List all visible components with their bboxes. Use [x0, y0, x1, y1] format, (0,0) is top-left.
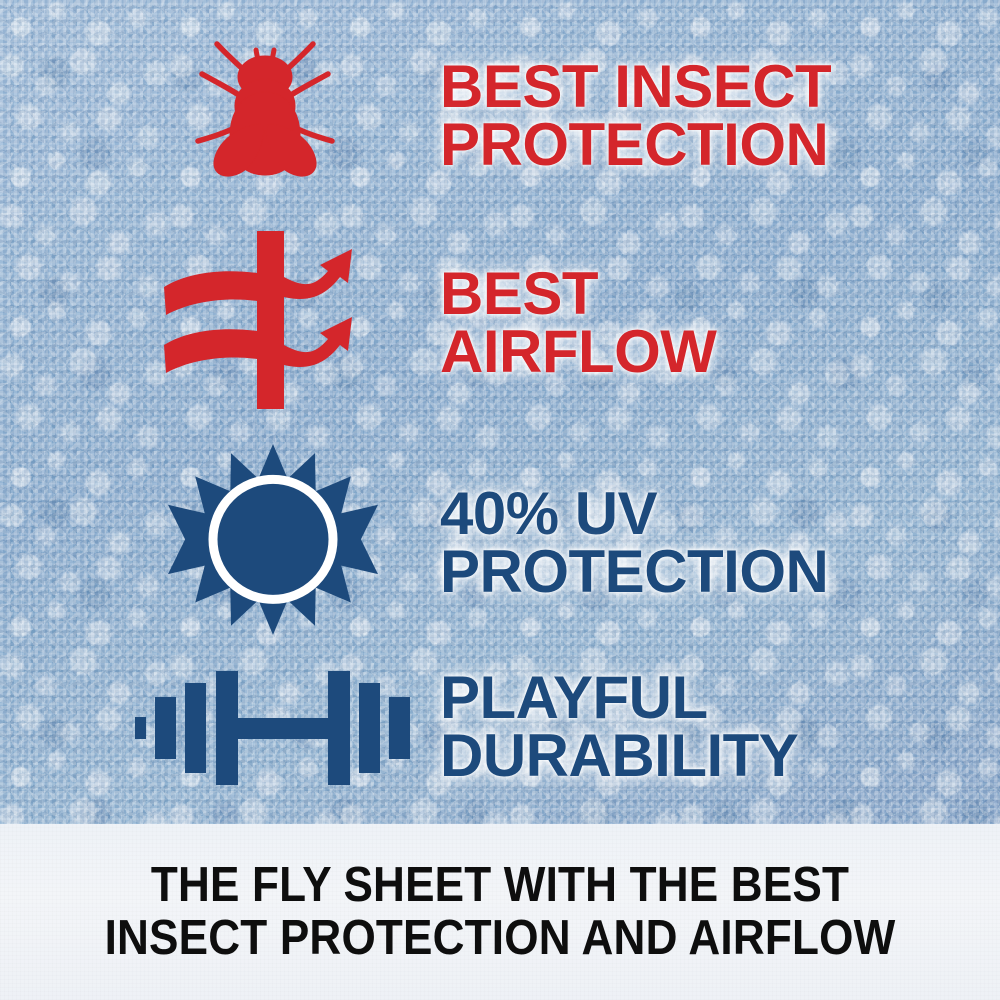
feature-row-uv-protection: 40% UV PROTECTION: [0, 440, 1000, 645]
dumbbell-icon: [135, 655, 405, 800]
caption-headline: THE FLY SHEET WITH THE BEST INSECT PROTE…: [68, 859, 932, 965]
dumbbell-icon-cell: [135, 655, 405, 800]
caption-bar: THE FLY SHEET WITH THE BEST INSECT PROTE…: [0, 824, 1000, 1000]
sun-icon-cell: [165, 440, 380, 645]
sun-icon: [167, 442, 379, 644]
feature-row-durability: PLAYFUL DURABILITY: [0, 655, 1000, 805]
feature-list: BEST INSECT PROTECTION: [0, 0, 1000, 824]
feature-label-uv-protection: 40% UV PROTECTION: [440, 485, 828, 600]
fly-icon: [190, 20, 340, 200]
feature-text-cell-uv-protection: 40% UV PROTECTION: [440, 485, 828, 600]
feature-text-cell-insect-protection: BEST INSECT PROTECTION: [440, 58, 831, 173]
fly-icon-cell: [185, 20, 345, 200]
feature-text-cell-airflow: BEST AIRFLOW: [440, 265, 716, 380]
feature-label-insect-protection: BEST INSECT PROTECTION: [440, 58, 831, 173]
feature-label-durability: PLAYFUL DURABILITY: [440, 669, 798, 784]
feature-row-airflow: BEST AIRFLOW: [0, 225, 1000, 415]
feature-text-cell-durability: PLAYFUL DURABILITY: [440, 669, 798, 784]
product-feature-poster: BEST INSECT PROTECTION: [0, 0, 1000, 1000]
feature-label-airflow: BEST AIRFLOW: [440, 265, 716, 380]
airflow-arrows-icon: [160, 225, 375, 415]
airflow-icon-cell: [160, 225, 375, 415]
feature-row-insect-protection: BEST INSECT PROTECTION: [0, 10, 1000, 210]
